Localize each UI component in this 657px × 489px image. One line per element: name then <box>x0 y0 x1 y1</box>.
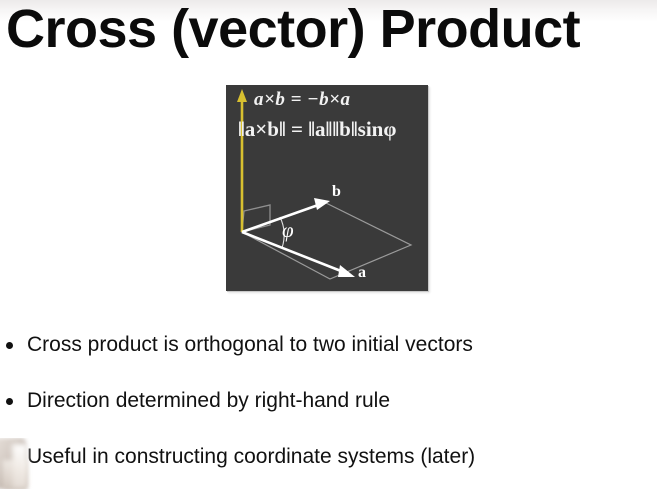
cross-product-figure: a×b = −b×a ‖a×b‖ = ‖a‖‖b‖sinφ b a φ <box>226 85 428 291</box>
vector-a-label: a <box>358 264 366 282</box>
cross-product-vector-diagram <box>226 85 428 291</box>
bullet-text: Direction determined by right-hand rule <box>27 385 390 416</box>
vector-a-shaft <box>242 232 346 273</box>
vector-b-label: b <box>332 183 341 201</box>
angle-phi-label: φ <box>282 218 294 243</box>
list-item: Useful in constructing coordinate system… <box>0 441 657 475</box>
slide-canvas: Cross (vector) Product a×b = −b×a ‖a×b‖ … <box>0 0 657 489</box>
bullet-marker-icon <box>6 342 13 349</box>
vector-a-arrow-head <box>338 265 355 277</box>
formula-magnitude: ‖a×b‖ = ‖a‖‖b‖sinφ <box>238 117 396 142</box>
list-item: Cross product is orthogonal to two initi… <box>0 329 657 363</box>
bullet-marker-icon <box>6 398 13 405</box>
bullet-text: Cross product is orthogonal to two initi… <box>27 329 473 360</box>
cross-product-arrow-head <box>237 89 247 102</box>
bullet-text: Useful in constructing coordinate system… <box>27 441 475 472</box>
formula-anticommutative: a×b = −b×a <box>254 89 351 111</box>
page-title: Cross (vector) Product <box>6 0 657 62</box>
list-item: Direction determined by right-hand rule <box>0 385 657 419</box>
